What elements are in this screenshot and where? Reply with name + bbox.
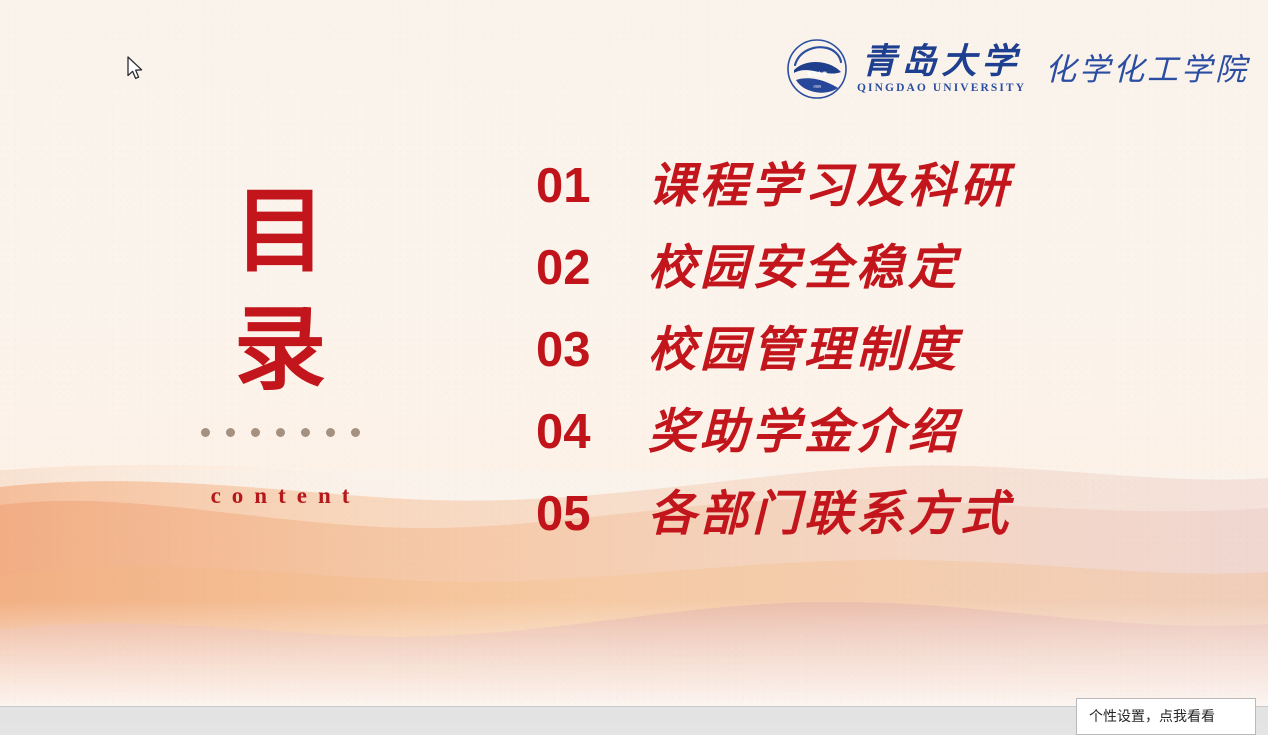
svg-text:青岛大学: 青岛大学 <box>807 71 827 78</box>
slide-title-block: 目 录 content <box>176 186 384 509</box>
university-logo: 青岛大学 1909 青岛大学 QINGDAO UNIVERSITY 化学化工学院 <box>786 36 1249 102</box>
agenda-label: 校园安全稳定 <box>648 245 960 293</box>
agenda-item-02[interactable]: 02 校园安全稳定 <box>536 244 1176 326</box>
agenda-item-01[interactable]: 01 课程学习及科研 <box>536 162 1176 244</box>
agenda-label: 奖助学金介绍 <box>648 409 960 457</box>
agenda-item-04[interactable]: 04 奖助学金介绍 <box>536 408 1176 490</box>
decorative-dot <box>301 428 310 437</box>
decorative-dots-row <box>176 428 384 437</box>
agenda-number: 05 <box>536 490 648 539</box>
title-character-lu: 录 <box>176 304 384 396</box>
agenda-item-05[interactable]: 05 各部门联系方式 <box>536 490 1176 572</box>
decorative-dot <box>351 428 360 437</box>
agenda-number: 03 <box>536 326 648 375</box>
presentation-slide: 青岛大学 1909 青岛大学 QINGDAO UNIVERSITY 化学化工学院… <box>0 0 1268 706</box>
agenda-number: 04 <box>536 408 648 457</box>
qingdao-university-seal-icon: 青岛大学 1909 <box>786 38 848 100</box>
title-subtitle-content: content <box>176 483 384 509</box>
logo-college-name: 化学化工学院 <box>1045 54 1249 85</box>
agenda-item-03[interactable]: 03 校园管理制度 <box>536 326 1176 408</box>
logo-name-en: QINGDAO UNIVERSITY <box>857 82 1026 94</box>
mouse-cursor-arrow-icon <box>127 56 145 82</box>
logo-name-cn: 青岛大学 <box>862 44 1022 79</box>
agenda-number: 01 <box>536 162 648 211</box>
agenda-list: 01 课程学习及科研 02 校园安全稳定 03 校园管理制度 04 奖助学金介绍… <box>536 162 1176 572</box>
decorative-dot <box>201 428 210 437</box>
decorative-dot <box>251 428 260 437</box>
agenda-number: 02 <box>536 244 648 293</box>
title-character-mu: 目 <box>176 186 384 278</box>
agenda-label: 校园管理制度 <box>648 327 960 375</box>
svg-text:1909: 1909 <box>813 84 821 89</box>
logo-wordmark: 青岛大学 QINGDAO UNIVERSITY <box>857 44 1026 94</box>
decorative-dot <box>276 428 285 437</box>
decorative-dot <box>326 428 335 437</box>
personalization-tooltip[interactable]: 个性设置，点我看看 <box>1076 698 1256 735</box>
agenda-label: 课程学习及科研 <box>648 163 1012 211</box>
decorative-dot <box>226 428 235 437</box>
agenda-label: 各部门联系方式 <box>648 491 1012 539</box>
